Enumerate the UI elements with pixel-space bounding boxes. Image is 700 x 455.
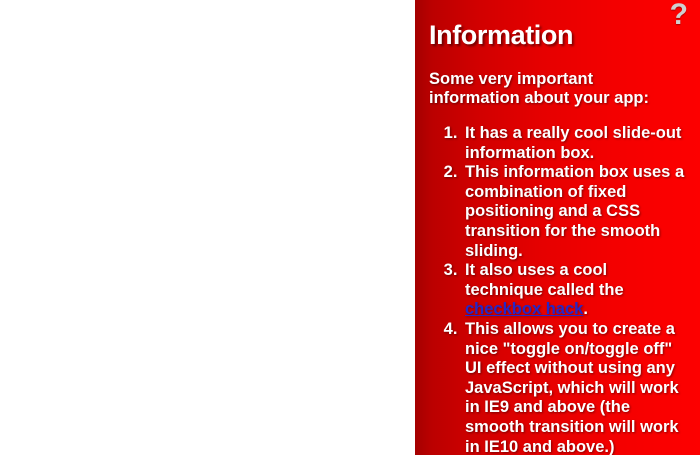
panel-intro-text: Some very important information about yo… [429, 70, 686, 108]
page-root: ? Information Some very important inform… [0, 0, 700, 455]
information-list: It has a really cool slide-out informati… [429, 124, 686, 455]
panel-heading: Information [429, 20, 686, 50]
information-panel: ? Information Some very important inform… [415, 0, 700, 455]
list-item: It has a really cool slide-out informati… [462, 124, 686, 163]
list-item-text-tail: . [583, 300, 588, 318]
checkbox-hack-link[interactable]: checkbox hack [465, 300, 583, 318]
list-item-text: It also uses a cool technique called the [465, 261, 624, 299]
list-item-text: This allows you to create a nice "toggle… [465, 320, 679, 455]
list-item: This allows you to create a nice "toggle… [462, 320, 686, 455]
app-canvas [0, 0, 415, 455]
question-mark-icon[interactable]: ? [670, 0, 688, 32]
list-item: It also uses a cool technique called the… [462, 261, 686, 320]
list-item-text: It has a really cool slide-out informati… [465, 124, 681, 162]
list-item-text: This information box uses a combination … [465, 163, 684, 259]
list-item: This information box uses a combination … [462, 163, 686, 261]
